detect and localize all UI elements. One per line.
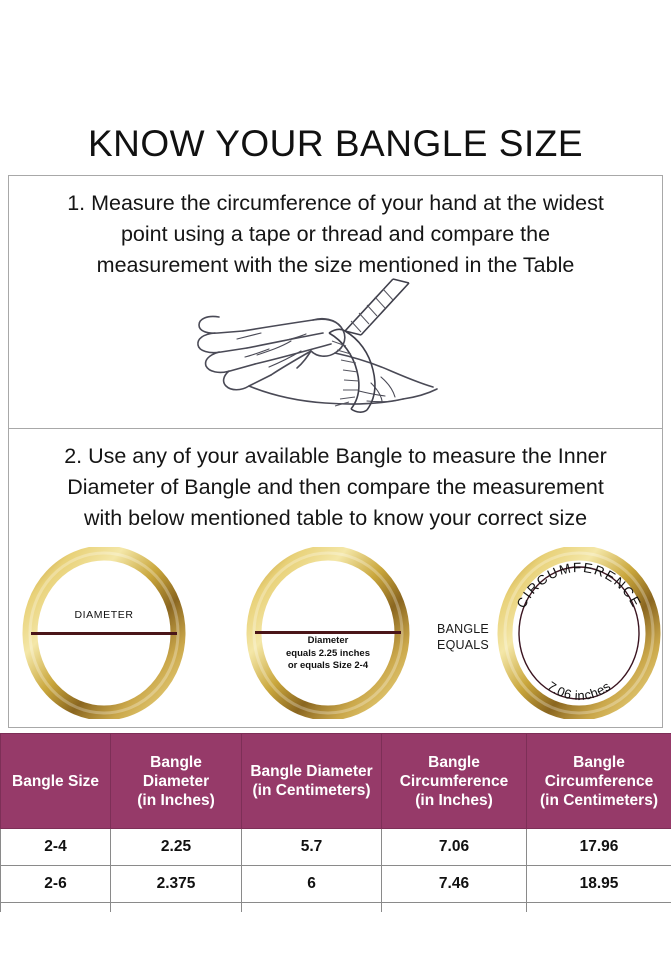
cell-diameter-cm: 5.7 <box>242 829 382 866</box>
bangle-size-table: Bangle Size Bangle Diameter (in Inches) … <box>0 733 671 940</box>
instruction-step-2-text: 2. Use any of your available Bangle to m… <box>9 429 662 534</box>
header-line: Circumference <box>384 772 524 791</box>
cell-circumference-cm: 18.95 <box>527 866 671 903</box>
cell-circumference-inches: 7.06 <box>382 829 527 866</box>
header-line: (in Inches) <box>384 791 524 810</box>
page-title: KNOW YOUR BANGLE SIZE <box>0 122 671 166</box>
instructions-card: 1. Measure the circumference of your han… <box>8 175 663 728</box>
header-line: Bangle <box>113 753 239 772</box>
cell-bangle-size: 2-4 <box>1 829 111 866</box>
ring2-diameter-line <box>255 631 401 634</box>
instruction-step-2: 2. Use any of your available Bangle to m… <box>9 428 662 727</box>
cell-diameter-inches: 2.375 <box>111 866 242 903</box>
table-header-circumference-inches: Bangle Circumference (in Inches) <box>382 734 527 829</box>
instruction-1-line-1: 1. Measure the circumference of your han… <box>33 188 638 219</box>
instruction-2-line-1: 2. Use any of your available Bangle to m… <box>33 441 638 472</box>
cell-diameter-cm: 6 <box>242 866 382 903</box>
instruction-2-line-3: with below mentioned table to know your … <box>33 503 638 534</box>
bangle-equals-line-2: EQUALS <box>421 637 505 653</box>
table-header-row: Bangle Size Bangle Diameter (in Inches) … <box>1 734 671 829</box>
header-line: (in Inches) <box>113 791 239 810</box>
table-header-diameter-centimeters: Bangle Diameter (in Centimeters) <box>242 734 382 829</box>
bangle-ring-circumference: CIRCUMFERENCE 7.06 inches <box>496 547 662 719</box>
header-line: (in Centimeters) <box>529 791 669 810</box>
cell-circumference-cm: 17.96 <box>527 829 671 866</box>
instruction-1-line-2: point using a tape or thread and compare… <box>33 219 638 250</box>
header-line: Diameter <box>113 772 239 791</box>
header-line: Bangle <box>529 753 669 772</box>
svg-text:7.06 inches: 7.06 inches <box>544 678 613 703</box>
header-line: Bangle Diameter <box>244 762 379 781</box>
header-line: (in Centimeters) <box>244 781 379 800</box>
bottom-whitespace <box>0 912 671 960</box>
top-whitespace <box>0 0 671 118</box>
bangle-equals-line-1: BANGLE <box>421 621 505 637</box>
cell-bangle-size: 2-6 <box>1 866 111 903</box>
bangle-equals-label: BANGLE EQUALS <box>421 621 505 653</box>
cell-circumference-inches: 7.46 <box>382 866 527 903</box>
instruction-2-line-2: Diameter of Bangle and then compare the … <box>33 472 638 503</box>
table-row: 2-4 2.25 5.7 7.06 17.96 <box>1 829 671 866</box>
instruction-step-1: 1. Measure the circumference of your han… <box>9 176 662 428</box>
table-row: 2-6 2.375 6 7.46 18.95 <box>1 866 671 903</box>
header-line: Circumference <box>529 772 669 791</box>
header-line: Bangle <box>384 753 524 772</box>
ring3-inches-arc-text: 7.06 inches <box>544 678 613 703</box>
table-header-diameter-inches: Bangle Diameter (in Inches) <box>111 734 242 829</box>
header-line: Bangle Size <box>12 773 99 790</box>
bangle-size-chart-page: KNOW YOUR BANGLE SIZE 1. Measure the cir… <box>0 0 671 960</box>
hand-measuring-illustration <box>185 271 465 423</box>
table-header-circumference-centimeters: Bangle Circumference (in Centimeters) <box>527 734 671 829</box>
cell-diameter-inches: 2.25 <box>111 829 242 866</box>
instruction-step-1-text: 1. Measure the circumference of your han… <box>9 176 662 281</box>
ring1-diameter-line <box>31 632 177 635</box>
table-header-bangle-size: Bangle Size <box>1 734 111 829</box>
bangle-diagram-row: DIAMETER <box>9 547 662 727</box>
